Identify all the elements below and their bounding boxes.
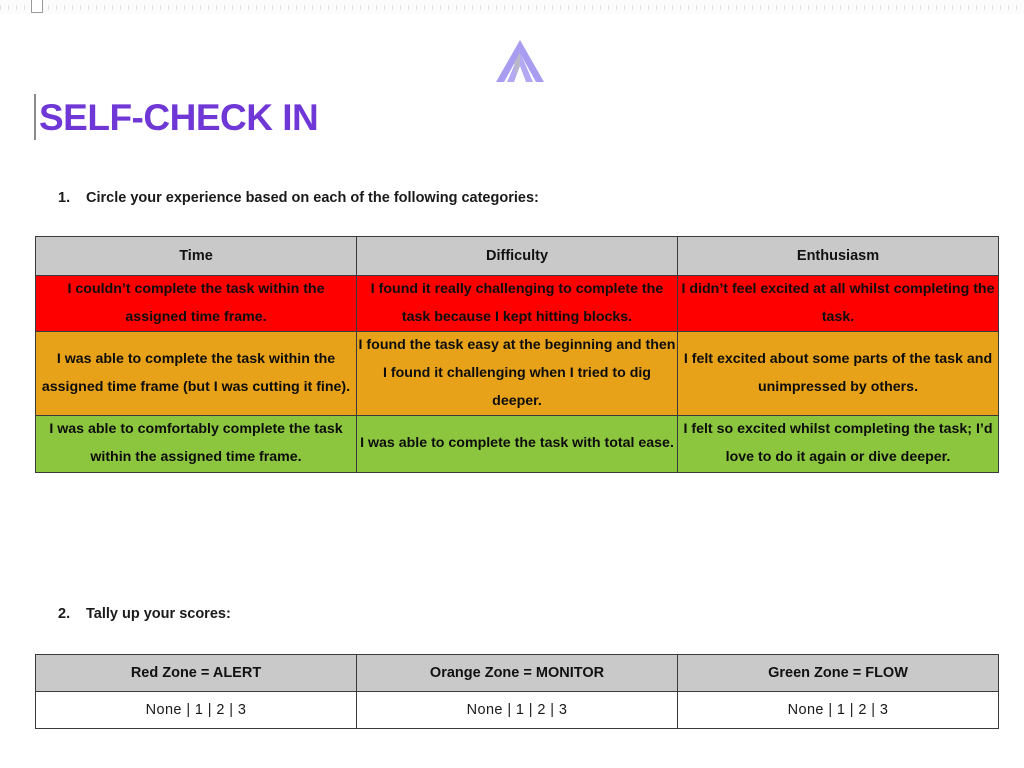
table-row-green-zone: I was able to comfortably complete the t… — [36, 416, 999, 472]
column-header-enthusiasm: Enthusiasm — [678, 237, 999, 276]
cell-red-enthusiasm[interactable]: I didn’t feel excited at all whilst comp… — [678, 276, 999, 332]
scores-table: Red Zone = ALERT Orange Zone = MONITOR G… — [35, 654, 999, 729]
column-header-time: Time — [36, 237, 357, 276]
scores-header-row: Red Zone = ALERT Orange Zone = MONITOR G… — [36, 655, 999, 692]
cell-orange-time[interactable]: I was able to complete the task within t… — [36, 332, 357, 416]
instruction-text-1: Circle your experience based on each of … — [86, 190, 539, 206]
cell-red-time[interactable]: I couldn’t complete the task within the … — [36, 276, 357, 332]
table-header-row: Time Difficulty Enthusiasm — [36, 237, 999, 276]
chevron-logo-icon — [492, 37, 548, 85]
cell-green-enthusiasm[interactable]: I felt so excited whilst completing the … — [678, 416, 999, 472]
column-header-green-zone: Green Zone = FLOW — [678, 655, 999, 692]
document-page: SELF-CHECK IN 1. Circle your experience … — [0, 14, 1024, 768]
table-row-red-zone: I couldn’t complete the task within the … — [36, 276, 999, 332]
column-header-orange-zone: Orange Zone = MONITOR — [357, 655, 678, 692]
tally-red-zone[interactable]: None | 1 | 2 | 3 — [36, 692, 357, 729]
cell-orange-enthusiasm[interactable]: I felt excited about some parts of the t… — [678, 332, 999, 416]
tally-green-zone[interactable]: None | 1 | 2 | 3 — [678, 692, 999, 729]
ruler-ticks — [0, 5, 1024, 10]
instruction-item-2: 2. Tally up your scores: — [58, 606, 231, 622]
cell-green-time[interactable]: I was able to comfortably complete the t… — [36, 416, 357, 472]
text-cursor — [34, 94, 36, 140]
scores-tally-row: None | 1 | 2 | 3 None | 1 | 2 | 3 None |… — [36, 692, 999, 729]
cell-orange-difficulty[interactable]: I found the task easy at the beginning a… — [357, 332, 678, 416]
cell-green-difficulty[interactable]: I was able to complete the task with tot… — [357, 416, 678, 472]
column-header-difficulty: Difficulty — [357, 237, 678, 276]
categories-table: Time Difficulty Enthusiasm I couldn’t co… — [35, 236, 999, 473]
page-title: SELF-CHECK IN — [39, 99, 318, 136]
instruction-number-2: 2. — [58, 606, 86, 622]
first-line-indent-marker-icon[interactable] — [31, 0, 43, 13]
column-header-red-zone: Red Zone = ALERT — [36, 655, 357, 692]
tally-orange-zone[interactable]: None | 1 | 2 | 3 — [357, 692, 678, 729]
instruction-text-2: Tally up your scores: — [86, 606, 231, 622]
instruction-number-1: 1. — [58, 190, 86, 206]
table-row-orange-zone: I was able to complete the task within t… — [36, 332, 999, 416]
instruction-item-1: 1. Circle your experience based on each … — [58, 190, 539, 206]
document-ruler[interactable] — [0, 0, 1024, 15]
page-title-row: SELF-CHECK IN — [34, 94, 318, 140]
cell-red-difficulty[interactable]: I found it really challenging to complet… — [357, 276, 678, 332]
